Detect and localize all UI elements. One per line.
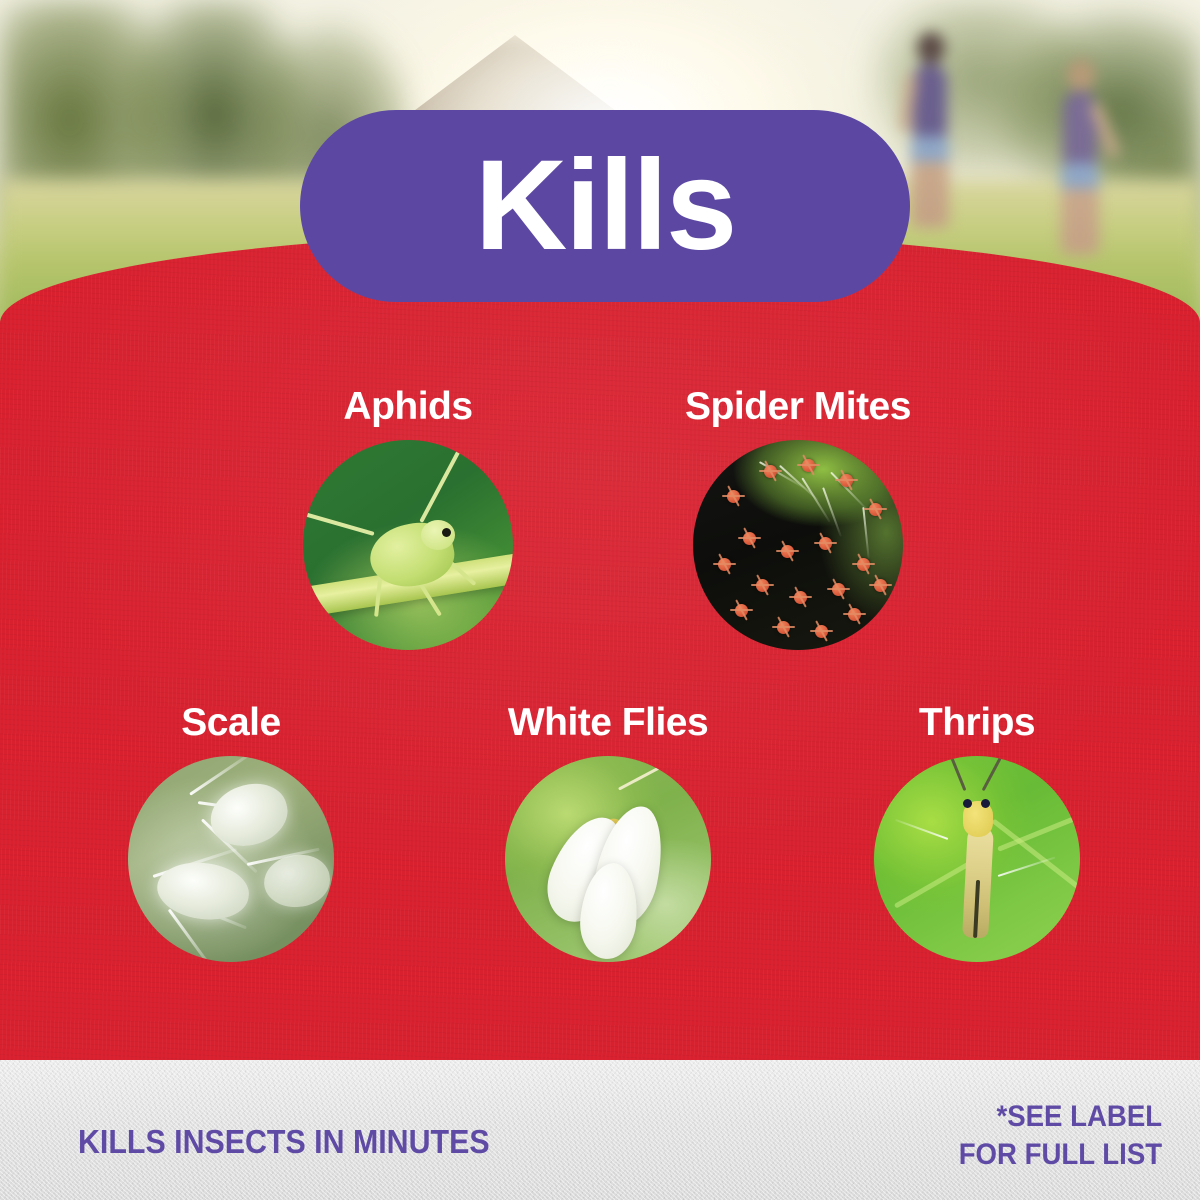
mite — [857, 558, 870, 571]
thrips-wing-fringe — [997, 857, 1055, 877]
mite — [819, 537, 832, 550]
aphid-photo — [303, 440, 513, 650]
mite — [756, 579, 769, 592]
child-torso — [913, 64, 947, 142]
child-legs — [911, 136, 949, 228]
pest-item-thrips: Thrips — [874, 703, 1080, 962]
leaf-vein — [992, 818, 1080, 896]
thrips-abdomen — [962, 825, 994, 938]
scale-insect — [204, 775, 296, 854]
mite — [781, 545, 794, 558]
white-flies-photo — [505, 756, 711, 962]
footer-disclaimer-line-2: FOR FULL LIST — [959, 1136, 1162, 1174]
thrips-wing-fringe — [895, 819, 948, 840]
mite — [840, 474, 853, 487]
pest-label-white-flies: White Flies — [487, 703, 729, 744]
pest-label-thrips: Thrips — [874, 703, 1080, 744]
pest-item-white-flies: White Flies — [487, 703, 729, 962]
pest-label-aphids: Aphids — [303, 387, 513, 428]
thrips-eye — [963, 799, 972, 808]
mite — [832, 583, 845, 596]
pest-label-spider-mites: Spider Mites — [660, 387, 936, 428]
aphid-antenna — [303, 510, 375, 536]
mite — [764, 465, 777, 478]
pest-item-scale: Scale — [128, 703, 334, 962]
thrips-antenna — [982, 756, 1005, 791]
kills-headline-text: Kills — [475, 142, 735, 270]
mite — [727, 490, 740, 503]
leaf-vein — [997, 806, 1080, 852]
child-head — [917, 32, 945, 64]
mite — [802, 459, 815, 472]
product-infographic: Kills Aphids Spider Mites — [0, 0, 1200, 1200]
mite — [794, 591, 807, 604]
thrips-photo — [874, 756, 1080, 962]
scale-insect — [153, 857, 252, 925]
child-running-right — [1055, 55, 1113, 260]
mite — [874, 579, 887, 592]
footer-disclaimer-line-1: *SEE LABEL — [959, 1098, 1162, 1136]
pest-label-scale: Scale — [128, 703, 334, 744]
mite — [718, 558, 731, 571]
leaf-hair — [862, 507, 869, 559]
thrips-antenna — [947, 756, 966, 791]
pest-item-spider-mites: Spider Mites — [660, 387, 936, 650]
child-running-left — [905, 28, 957, 243]
whitefly-antenna — [618, 766, 660, 790]
spider-mites-photo — [693, 440, 903, 650]
mite — [848, 608, 861, 621]
pest-item-aphids: Aphids — [303, 387, 513, 650]
child-head — [1067, 59, 1095, 91]
aphid-eye — [442, 528, 451, 537]
footer-disclaimer: *SEE LABEL FOR FULL LIST — [959, 1098, 1162, 1175]
mite — [777, 621, 790, 634]
mite — [815, 625, 828, 638]
footer-tagline: KILLS INSECTS IN MINUTES — [78, 1123, 490, 1161]
mite — [743, 532, 756, 545]
child-legs — [1061, 163, 1099, 255]
scale-photo — [128, 756, 334, 962]
mite — [735, 604, 748, 617]
kills-headline-pill: Kills — [300, 110, 910, 302]
aphid-antenna — [419, 445, 463, 523]
mite — [869, 503, 882, 516]
